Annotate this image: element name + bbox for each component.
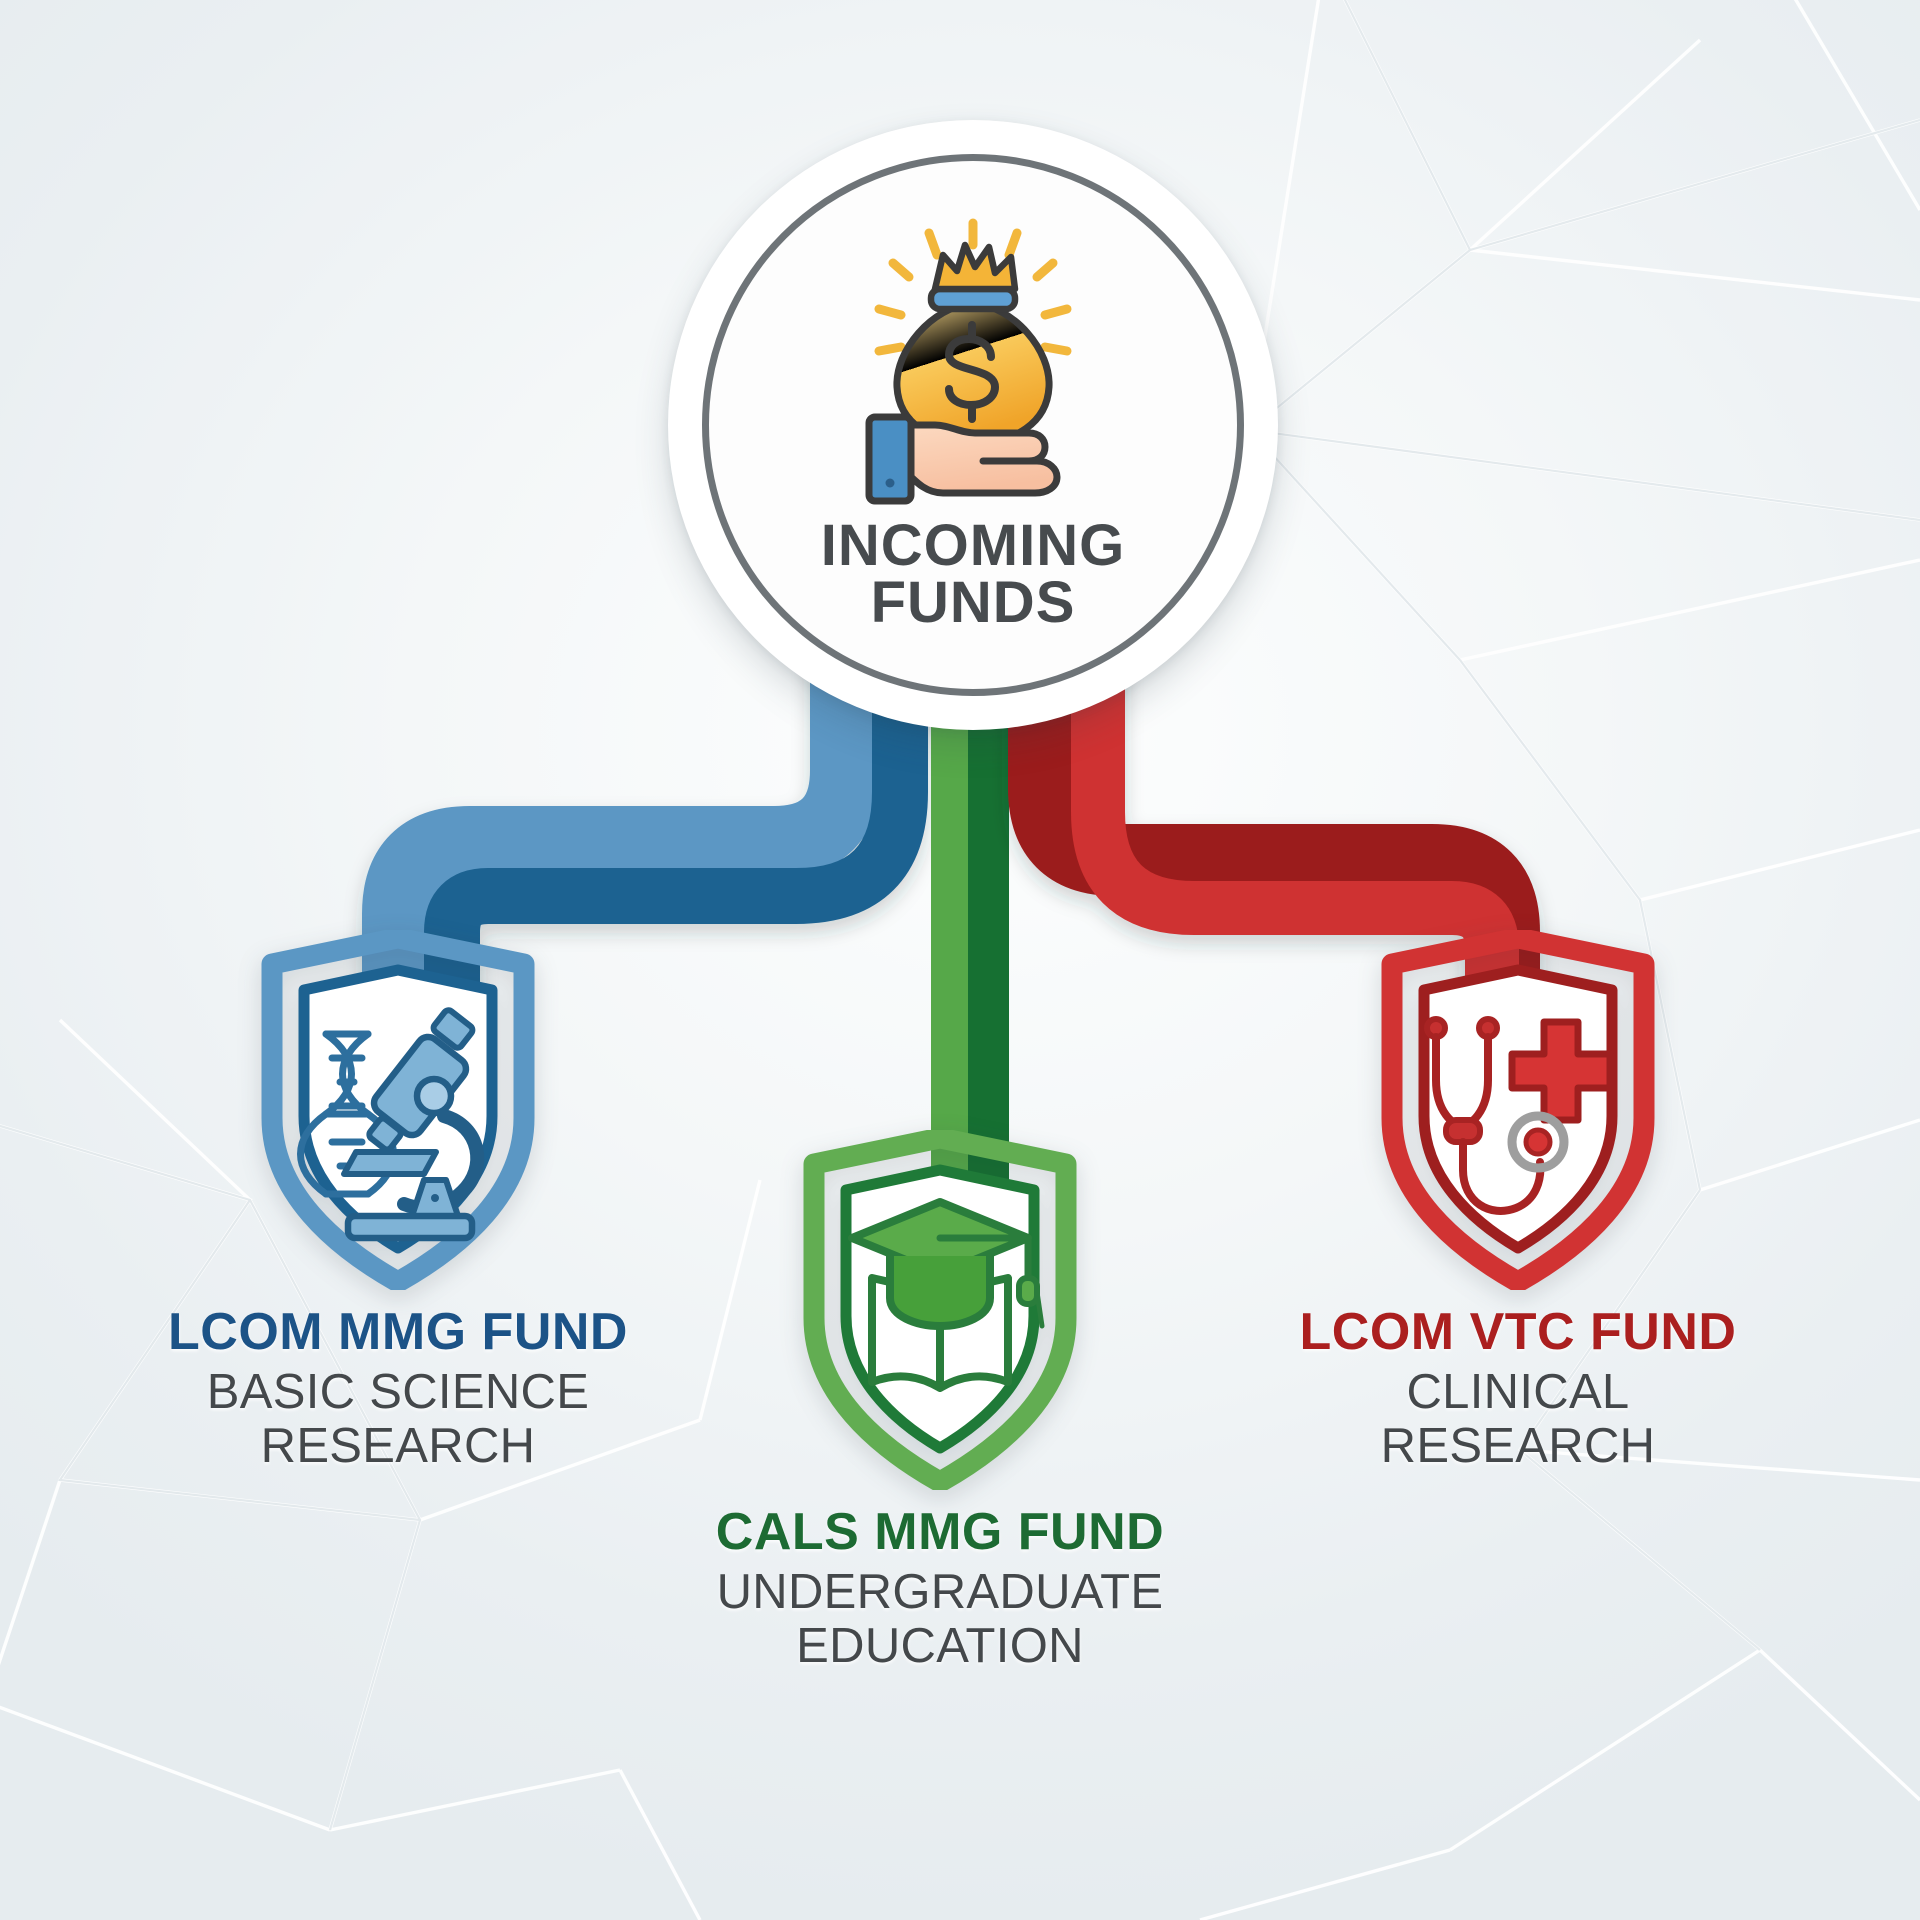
money-bag-in-hand-icon [823,211,1123,511]
money-bag-top [935,245,1015,289]
branch-cals-mmg[interactable]: CALS MMG FUND UNDERGRADUATE EDUCATION [620,1130,1260,1674]
shield-lcom-vtc[interactable] [1368,930,1668,1290]
branch-lcom-vtc[interactable]: LCOM VTC FUND CLINICAL RESEARCH [1238,930,1798,1474]
dna-microscope-shield [248,930,548,1290]
shield-cals-mmg[interactable] [790,1130,1090,1490]
incoming-funds-node[interactable]: INCOMING FUNDS [668,120,1278,730]
fund-desc-lcom-mmg: BASIC SCIENCE RESEARCH [168,1366,628,1474]
caption-cals-mmg: CALS MMG FUND UNDERGRADUATE EDUCATION [716,1506,1164,1674]
sleeve-cuff [869,417,911,501]
open-hand-icon [907,425,1057,493]
fund-desc-lcom-vtc: CLINICAL RESEARCH [1300,1366,1737,1474]
caption-lcom-vtc: LCOM VTC FUND CLINICAL RESEARCH [1300,1306,1737,1474]
hub-label-line-1: INCOMING [821,517,1125,574]
fund-desc-line-1: BASIC SCIENCE [168,1366,628,1420]
fund-desc-line-2: EDUCATION [716,1620,1164,1674]
graduation-book-shield [790,1130,1090,1490]
hub-label-line-2: FUNDS [821,574,1125,631]
caption-lcom-mmg: LCOM MMG FUND BASIC SCIENCE RESEARCH [168,1306,628,1474]
fund-name-lcom-vtc: LCOM VTC FUND [1300,1306,1737,1358]
stethoscope-cross-shield [1368,930,1668,1290]
fund-desc-line-1: UNDERGRADUATE [716,1566,1164,1620]
fund-desc-line-1: CLINICAL [1300,1366,1737,1420]
cuff-button-icon [886,478,895,487]
fund-desc-cals-mmg: UNDERGRADUATE EDUCATION [716,1566,1164,1674]
branch-lcom-mmg[interactable]: LCOM MMG FUND BASIC SCIENCE RESEARCH [118,930,678,1474]
fund-name-cals-mmg: CALS MMG FUND [716,1506,1164,1558]
infographic-canvas: INCOMING FUNDS [0,0,1920,1920]
fund-name-lcom-mmg: LCOM MMG FUND [168,1306,628,1358]
shield-lcom-mmg[interactable] [248,930,548,1290]
fund-desc-line-2: RESEARCH [168,1420,628,1474]
hub-label: INCOMING FUNDS [821,517,1125,632]
fund-desc-line-2: RESEARCH [1300,1420,1737,1474]
